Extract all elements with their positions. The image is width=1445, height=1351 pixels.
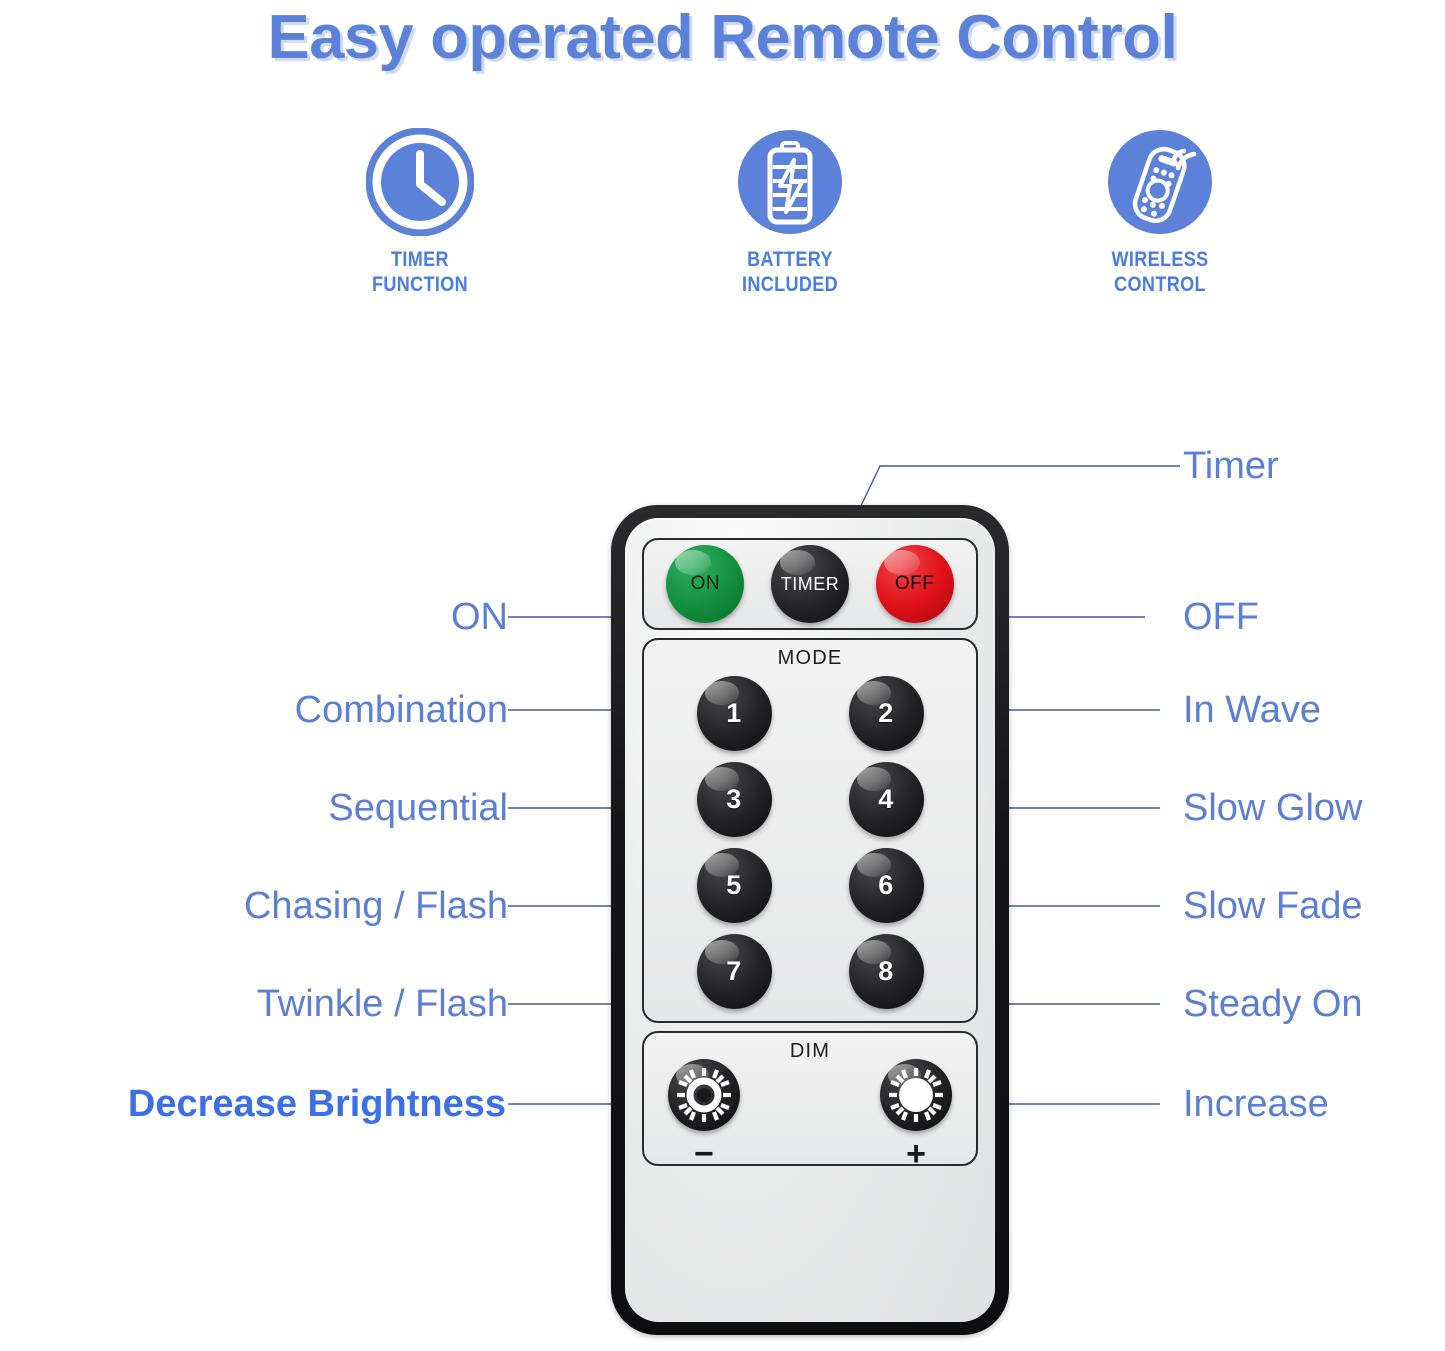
dim-row: [660, 1059, 960, 1131]
callout-on: ON: [220, 598, 508, 636]
callout-combination: Combination: [100, 691, 508, 729]
callout-increase: Increase: [1183, 1085, 1329, 1123]
remote-control: ON TIMER OFF MODE 1 2 3 4 5 6 7: [611, 505, 1009, 1335]
callout-slow-glow: Slow Glow: [1183, 789, 1363, 827]
dim-increase-button[interactable]: [880, 1059, 952, 1131]
callout-steady-on: Steady On: [1183, 985, 1363, 1023]
mode-button-label: 7: [726, 956, 742, 987]
mode-button-label: 4: [878, 784, 894, 815]
callout-timer: Timer: [1183, 447, 1279, 485]
mode-button-label: 3: [726, 784, 742, 815]
timer-button[interactable]: TIMER: [771, 545, 849, 623]
brightness-high-icon: [880, 1059, 952, 1131]
mode-button-6[interactable]: 6: [849, 848, 924, 923]
mode-button-5[interactable]: 5: [697, 848, 772, 923]
remote-signal-icon: [1106, 128, 1214, 236]
mode-button-8[interactable]: 8: [849, 934, 924, 1009]
on-button-label: ON: [691, 573, 721, 595]
mode-button-label: 5: [726, 870, 742, 901]
dim-decrease-button[interactable]: [668, 1059, 740, 1131]
brightness-low-icon: [668, 1059, 740, 1131]
callout-twinkle-flash: Twinkle / Flash: [60, 985, 508, 1023]
dim-plus-sign: +: [906, 1137, 926, 1171]
callout-off: OFF: [1183, 598, 1259, 636]
feature-caption: TIMER FUNCTION: [308, 248, 532, 298]
off-button-label: OFF: [895, 573, 935, 595]
dim-sign-row: − +: [660, 1131, 960, 1171]
feature-caption-line2: CONTROL: [1048, 273, 1272, 298]
callout-chasing-flash: Chasing / Flash: [60, 887, 508, 925]
callout-in-wave: In Wave: [1183, 691, 1321, 729]
callout-slow-fade: Slow Fade: [1183, 887, 1363, 925]
timer-button-label: TIMER: [781, 574, 840, 595]
feature-caption: BATTERY INCLUDED: [678, 248, 902, 298]
feature-timer: TIMER FUNCTION: [290, 128, 550, 298]
feature-badges: TIMER FUNCTION BATTERY INCLUDED: [0, 128, 1445, 308]
feature-caption: WIRELESS CONTROL: [1048, 248, 1272, 298]
mode-button-7[interactable]: 7: [697, 934, 772, 1009]
mode-button-label: 8: [878, 956, 894, 987]
mode-button-2[interactable]: 2: [849, 676, 924, 751]
mode-button-4[interactable]: 4: [849, 762, 924, 837]
feature-caption-line1: TIMER: [308, 248, 532, 273]
feature-caption-line1: WIRELESS: [1048, 248, 1272, 273]
feature-caption-line2: INCLUDED: [678, 273, 902, 298]
off-button[interactable]: OFF: [876, 545, 954, 623]
power-button-group: ON TIMER OFF: [642, 538, 978, 630]
feature-caption-line2: FUNCTION: [308, 273, 532, 298]
mode-button-label: 2: [878, 698, 894, 729]
feature-wireless: WIRELESS CONTROL: [1030, 128, 1290, 298]
dim-button-group: DIM: [642, 1031, 978, 1166]
clock-icon: [366, 128, 474, 236]
callout-decrease-brightness: Decrease Brightness: [8, 1085, 506, 1123]
page-title: Easy operated Remote Control: [0, 2, 1445, 73]
mode-button-label: 6: [878, 870, 894, 901]
infographic-page: Easy operated Remote Control TIMER FUNCT…: [0, 0, 1445, 1351]
remote-face: ON TIMER OFF MODE 1 2 3 4 5 6 7: [625, 518, 995, 1322]
mode-button-1[interactable]: 1: [697, 676, 772, 751]
on-button[interactable]: ON: [666, 545, 744, 623]
feature-caption-line1: BATTERY: [678, 248, 902, 273]
dim-minus-sign: −: [694, 1137, 714, 1171]
mode-grid: 1 2 3 4 5 6 7 8: [658, 670, 962, 1015]
mode-group-label: MODE: [644, 647, 976, 670]
mode-button-label: 1: [726, 698, 742, 729]
battery-icon: [736, 128, 844, 236]
callout-sequential: Sequential: [100, 789, 508, 827]
feature-battery: BATTERY INCLUDED: [660, 128, 920, 298]
mode-button-3[interactable]: 3: [697, 762, 772, 837]
mode-button-group: MODE 1 2 3 4 5 6 7 8: [642, 638, 978, 1023]
